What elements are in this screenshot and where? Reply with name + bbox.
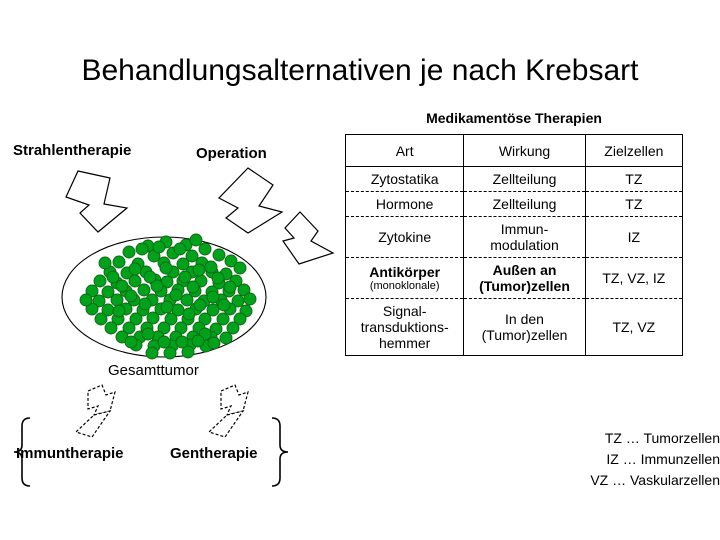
arrow-immunotherapy-shaft: [76, 411, 110, 437]
cell-wirkung: Zellteilung: [464, 192, 585, 217]
label-radiotherapy: Strahlentherapie: [13, 142, 131, 159]
cell-art-sub: (monoklonale): [348, 280, 461, 293]
column-header-wirkung: Wirkung: [464, 135, 585, 167]
label-surgery: Operation: [196, 145, 267, 162]
cell-art: Zytostatika: [346, 167, 464, 192]
cell-art: Zytokine: [346, 217, 464, 258]
table-row: Zytokine Immun-modulation IZ: [346, 217, 683, 258]
cell-zielzellen: TZ: [585, 192, 682, 217]
label-total-tumor: Gesamttumor: [108, 362, 199, 379]
cell-wirkung: Außen an(Tumor)zellen: [464, 258, 585, 299]
table-row: Zytostatika Zellteilung TZ: [346, 167, 683, 192]
cell-art-main: Antikörper: [369, 264, 440, 280]
arrow-genetherapy-shaft: [209, 411, 243, 437]
cell-art: Hormone: [346, 192, 464, 217]
legend-line-iz: IZ … Immunzellen: [443, 449, 720, 470]
legend-line-tz: TZ … Tumorzellen: [443, 428, 720, 449]
arrow-radiotherapy: [66, 171, 127, 232]
legend-line-vz: VZ … Vaskularzellen: [443, 470, 720, 491]
arrow-surgery: [219, 168, 282, 233]
slide-canvas: Behandlungsalternativen je nach Krebsart: [0, 0, 720, 540]
cell-wirkung: Zellteilung: [464, 167, 585, 192]
cell-wirkung: In den(Tumor)zellen: [464, 299, 585, 356]
label-genetherapy: Gentherapie: [170, 445, 258, 462]
cell-zielzellen: IZ: [585, 217, 682, 258]
cell-art: Signal-transduktions-hemmer: [346, 299, 464, 356]
table-row: Signal-transduktions-hemmer In den(Tumor…: [346, 299, 683, 356]
cell-art: Antikörper (monoklonale): [346, 258, 464, 299]
right-curly-brace: [272, 418, 288, 486]
cell-zielzellen: TZ, VZ: [585, 299, 682, 356]
column-header-art: Art: [346, 135, 464, 167]
cell-zielzellen: TZ, VZ, IZ: [585, 258, 682, 299]
cell-wirkung: Immun-modulation: [464, 217, 585, 258]
table-row: Antikörper (monoklonale) Außen an(Tumor)…: [346, 258, 683, 299]
table-heading: Medikamentöse Therapien: [345, 110, 683, 126]
therapy-table: Art Wirkung Zielzellen Zytostatika Zellt…: [345, 134, 683, 356]
cell-zielzellen: TZ: [585, 167, 682, 192]
table-header-row: Art Wirkung Zielzellen: [346, 135, 683, 167]
column-header-zielzellen: Zielzellen: [585, 135, 682, 167]
abbreviation-legend: TZ … Tumorzellen IZ … Immunzellen VZ … V…: [443, 428, 720, 491]
table-row: Hormone Zellteilung TZ: [346, 192, 683, 217]
arrow-drug-therapy: [283, 212, 333, 264]
label-immunotherapy: Immuntherapie: [16, 445, 124, 462]
